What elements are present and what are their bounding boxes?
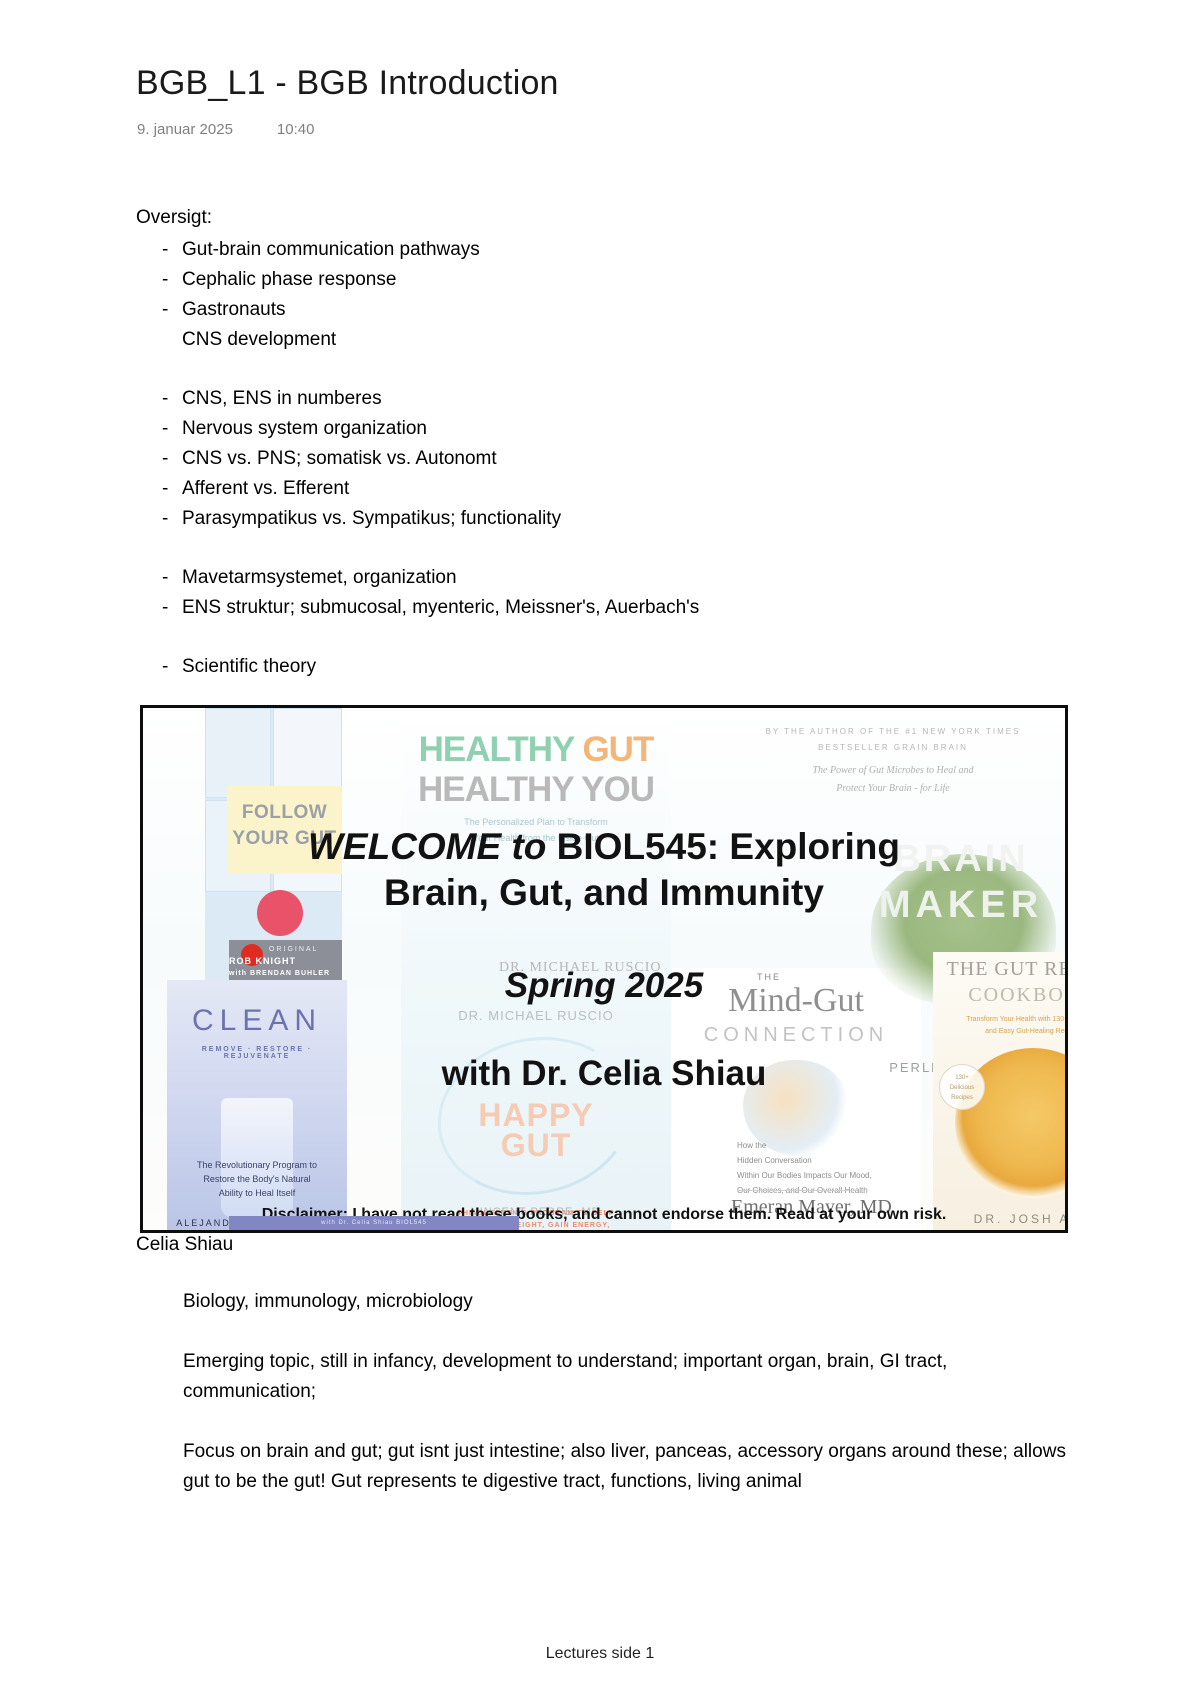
list-item: - Afferent vs. Efferent: [136, 474, 1036, 504]
headline-course: BIOL545: Exploring: [557, 826, 900, 867]
list-item-label: Gut-brain communication pathways: [182, 235, 1036, 265]
book-title-line2: HEALTHY YOU: [401, 770, 671, 810]
book-clean: CLEAN REMOVE · RESTORE · REJUVENATE The …: [167, 980, 347, 1230]
book-subtitle: Transform Your Health with 130+ Nutritio…: [947, 1014, 1065, 1038]
slide-headline-line1: WELCOME to BIOL545: Exploring: [143, 826, 1065, 868]
outline-block: Oversigt: - Gut-brain communication path…: [136, 203, 1036, 682]
notes-block: Biology, immunology, microbiology Emergi…: [183, 1287, 1079, 1527]
book-author: ROB KNIGHT: [229, 956, 296, 966]
list-item-label: Mavetarmsystemet, organization: [182, 563, 1036, 593]
list-item: - Parasympatikus vs. Sympatikus; functio…: [136, 504, 1036, 534]
list-item: - ENS struktur; submucosal, myenteric, M…: [136, 593, 1036, 623]
bullet-dash: -: [162, 474, 182, 504]
bullet-dash: -: [162, 652, 182, 682]
list-spacer: [136, 623, 1036, 652]
list-item: CNS development: [136, 325, 1036, 355]
list-item: - Nervous system organization: [136, 414, 1036, 444]
list-item-label: Gastronauts: [182, 295, 1036, 325]
book-tagline: The Revolutionary Program to Restore the…: [167, 1158, 347, 1200]
slide-footer-label: with Dr. Celia Shiau BIOL545: [229, 1216, 519, 1230]
bullet-dash: -: [162, 265, 182, 295]
list-item: - CNS vs. PNS; somatisk vs. Autonomt: [136, 444, 1036, 474]
bullet-dash: -: [162, 295, 182, 325]
headline-welcome: WELCOME to: [308, 826, 557, 867]
page-time: 10:40: [277, 121, 315, 138]
outline-heading: Oversigt:: [136, 203, 1036, 233]
outline-list: - Gut-brain communication pathways - Cep…: [136, 235, 1036, 682]
book-subtitle: The Power of Gut Microbes to Heal and Pr…: [743, 762, 1043, 798]
slide-headline-line2: Brain, Gut, and Immunity: [143, 872, 1065, 914]
list-item-label: Nervous system organization: [182, 414, 1036, 444]
note-paragraph: Emerging topic, still in infancy, develo…: [183, 1347, 1079, 1407]
slide-presenter: with Dr. Celia Shiau: [143, 1054, 1065, 1094]
page-footer: Lectures side 1: [0, 1645, 1200, 1663]
onenote-page: BGB_L1 - BGB Introduction 9. januar 2025…: [0, 0, 1200, 1697]
page-date: 9. januar 2025: [137, 121, 233, 138]
list-item-label: CNS vs. PNS; somatisk vs. Autonomt: [182, 444, 1036, 474]
collage-cell: [205, 708, 271, 798]
slide-canvas: FOLLOW YOUR GUT ORIGINAL ROB KNIGHT with…: [143, 708, 1065, 1230]
list-item: - Gastronauts: [136, 295, 1036, 325]
bullet-dash: -: [162, 563, 182, 593]
title-word-healthy: HEALTHY: [419, 730, 583, 769]
list-item: - Mavetarmsystemet, organization: [136, 563, 1036, 593]
divider: [737, 1190, 857, 1191]
embedded-slide-image[interactable]: FOLLOW YOUR GUT ORIGINAL ROB KNIGHT with…: [140, 705, 1068, 1233]
ted-label: ORIGINAL: [269, 946, 318, 953]
list-item-label: ENS struktur; submucosal, myenteric, Mei…: [182, 593, 1036, 623]
note-paragraph: Focus on brain and gut; gut isnt just in…: [183, 1437, 1079, 1497]
bullet-dash: -: [162, 384, 182, 414]
book-byline: BY THE AUTHOR OF THE #1 NEW YORK TIMES B…: [743, 724, 1043, 756]
list-item-label: CNS development: [182, 325, 1036, 355]
list-item-label: CNS, ENS in numberes: [182, 384, 1036, 414]
book-title: CLEAN: [167, 1004, 347, 1038]
collage-cell: [273, 708, 342, 798]
book-title-happy-gut: HAPPY GUT: [401, 1100, 671, 1160]
list-item: - Cephalic phase response: [136, 265, 1036, 295]
list-item: - CNS, ENS in numberes: [136, 384, 1036, 414]
list-item-label: Cephalic phase response: [182, 265, 1036, 295]
bullet-dash: -: [162, 235, 182, 265]
list-item-label: Scientific theory: [182, 652, 1036, 682]
slide-footer-bar: with Dr. Celia Shiau BIOL545: [229, 1216, 519, 1230]
image-caption: Celia Shiau: [136, 1231, 233, 1259]
slide-term: Spring 2025: [143, 966, 1065, 1006]
page-timestamp: 9. januar 202510:40: [137, 121, 314, 138]
title-word-gut: GUT: [582, 730, 653, 769]
list-spacer: [136, 534, 1036, 563]
page-title: BGB_L1 - BGB Introduction: [136, 64, 559, 103]
bullet-dash: -: [162, 593, 182, 623]
list-item: - Gut-brain communication pathways: [136, 235, 1036, 265]
note-paragraph: Biology, immunology, microbiology: [183, 1287, 1079, 1317]
book-blurb: How the Hidden Conversation Within Our B…: [737, 1138, 872, 1198]
bullet-dash: -: [162, 414, 182, 444]
list-item-label: Afferent vs. Efferent: [182, 474, 1036, 504]
list-spacer: [136, 355, 1036, 384]
list-item-label: Parasympatikus vs. Sympatikus; functiona…: [182, 504, 1036, 534]
bullet-dash: -: [162, 444, 182, 474]
bullet-dash: -: [162, 504, 182, 534]
book-title-line1: HEALTHY GUT: [401, 730, 671, 770]
list-item: - Scientific theory: [136, 652, 1036, 682]
